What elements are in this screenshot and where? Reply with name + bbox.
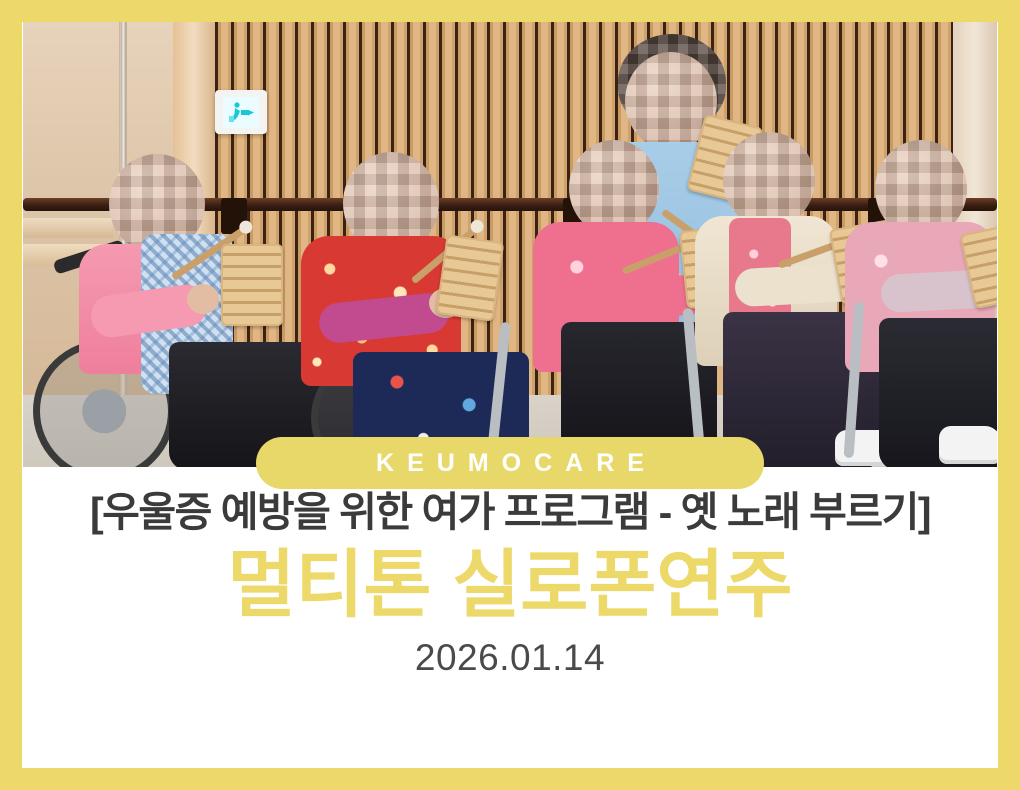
text-block: [우울증 예방을 위한 여가 프로그램 - 옛 노래 부르기] 멀티톤 실로폰연… — [22, 467, 998, 679]
program-photo — [23, 22, 997, 467]
shoe — [939, 426, 997, 464]
emergency-exit-sign — [215, 90, 267, 134]
hand — [187, 284, 219, 314]
wood-ledge-upper — [23, 218, 113, 238]
program-date: 2026.01.14 — [22, 637, 998, 679]
badge-label: KEUMOCARE — [363, 449, 657, 478]
exit-sign-screen — [223, 97, 259, 128]
program-card: KEUMOCARE [우울증 예방을 위한 여가 프로그램 - 옛 노래 부르기… — [0, 0, 1020, 790]
emergency-exit-icon — [226, 99, 256, 125]
program-title: 멀티톤 실로폰연주 — [22, 544, 998, 627]
xylophone-instrument — [221, 244, 283, 326]
xylophone-instrument — [436, 234, 505, 321]
card-inner: KEUMOCARE [우울증 예방을 위한 여가 프로그램 - 옛 노래 부르기… — [22, 22, 998, 768]
program-subtitle: [우울증 예방을 위한 여가 프로그램 - 옛 노래 부르기] — [22, 489, 998, 536]
keumocare-badge: KEUMOCARE — [256, 437, 764, 489]
face-mosaic — [723, 132, 815, 228]
